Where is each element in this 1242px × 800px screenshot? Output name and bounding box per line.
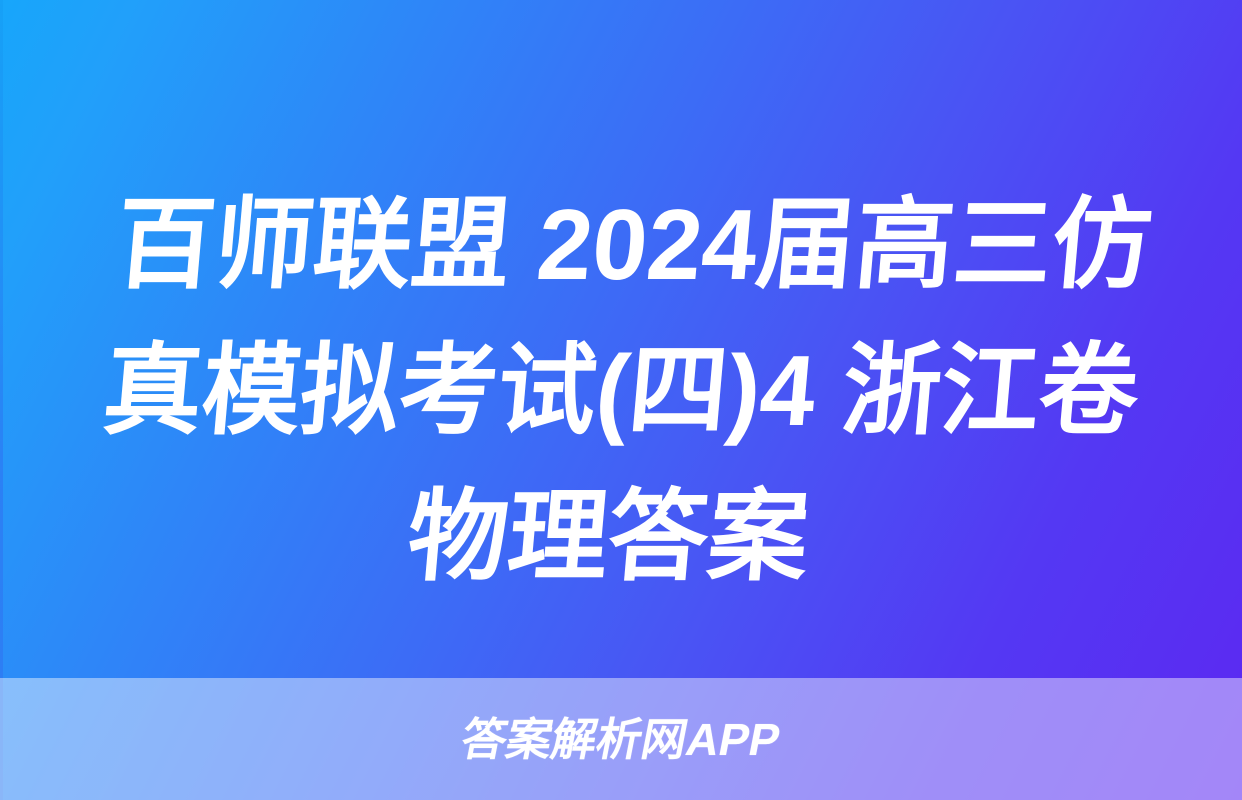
page-title-line-3: 物理答案 [47,464,1170,610]
answer-key-poster: 百师联盟 2024届高三仿 真模拟考试(四)4 浙江卷 物理答案 答案解析网AP… [0,0,1242,800]
page-title-line-1: 百师联盟 2024届高三仿 [81,172,1187,318]
brand-watermark-label: 答案解析网APP [458,717,784,762]
page-title-line-2: 真模拟考试(四)4 浙江卷 [68,318,1174,464]
page-title: 百师联盟 2024届高三仿 真模拟考试(四)4 浙江卷 物理答案 [0,172,1242,610]
watermark-band: 答案解析网APP [0,678,1242,800]
